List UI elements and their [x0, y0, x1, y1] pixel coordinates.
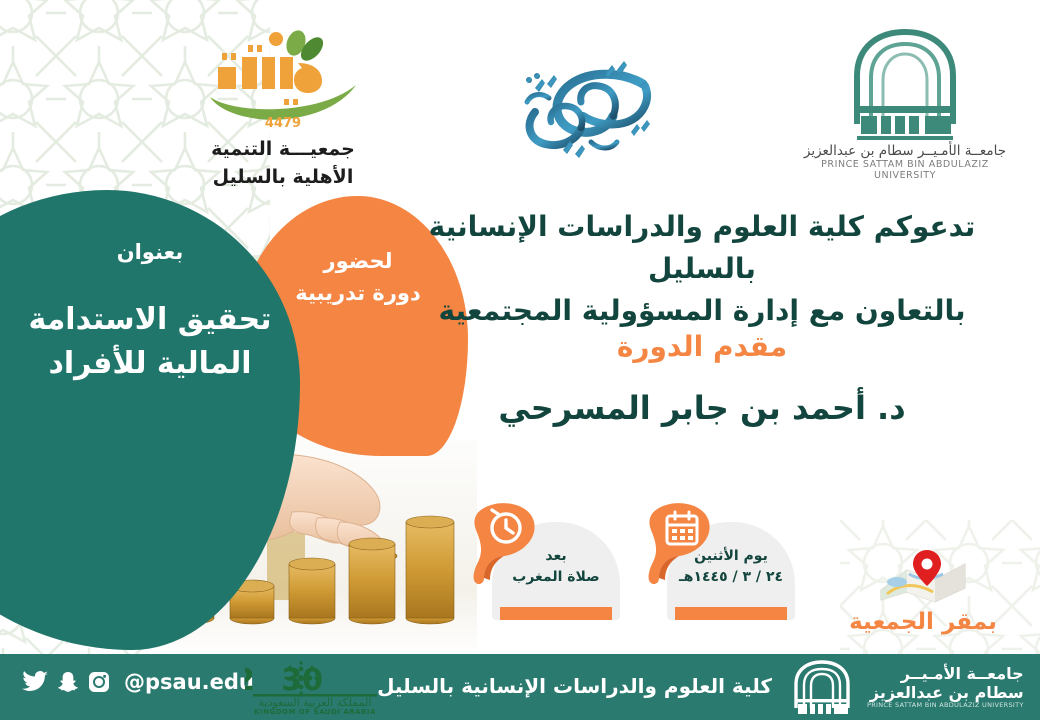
course-title-line2: المالية للأفراد — [0, 342, 300, 386]
course-title-label: بعنوان — [0, 240, 300, 264]
tanmia-logo-number: 4479 — [265, 116, 301, 131]
presenter-name: د. أحمد بن جابر المسرحي — [392, 389, 1012, 427]
info-card-date-line2: ٢٤ / ٣ / ١٤٤٥هـ — [667, 567, 795, 588]
headline-line2: بالتعاون مع إدارة المسؤولية المجتمعية — [392, 290, 1012, 332]
event-poster: لحضور دورة تدريبية بعنوان تحقيق الاستدام… — [0, 0, 1040, 720]
invitation-calligraphy — [495, 58, 665, 168]
course-title-panel: بعنوان تحقيق الاستدامة المالية للأفراد — [0, 240, 300, 385]
map-pin-icon — [875, 546, 971, 606]
footer-university-line2: سطام بن عبدالعزيز — [867, 683, 1024, 702]
info-card-date-bar — [675, 607, 787, 620]
info-card-time-bar — [500, 607, 612, 620]
footer-university-line-en: PRINCE SATTAM BIN ABDULAZIZ UNIVERSITY — [867, 702, 1024, 710]
presenter-block: مقدم الدورة د. أحمد بن جابر المسرحي — [392, 330, 1012, 427]
association-logo: 4479 جمعيـــة التنمية الأهلية بالسليل — [178, 22, 388, 191]
university-name-en: PRINCE SATTAM BIN ABDULAZIZ UNIVERSITY — [790, 159, 1020, 181]
headline-line1: تدعوكم كلية العلوم والدراسات الإنسانية ب… — [392, 206, 1012, 290]
info-card-date-text: يوم الأثنين ٢٤ / ٣ / ١٤٤٥هـ — [667, 546, 795, 588]
snapchat-icon[interactable] — [57, 671, 79, 693]
university-name-ar: جامعــة الأمـيــر سطام بن عبدالعزيز — [790, 143, 1020, 159]
footer-bar: @psau.edu 2 30 المملكة العربية السع — [0, 654, 1040, 720]
association-name-line1: جمعيـــة التنمية — [178, 136, 388, 164]
footer-social-group: @psau.edu — [22, 670, 254, 694]
location-block: بمقر الجمعية — [838, 545, 1008, 635]
footer-university-line1: جامعــة الأمـيــر — [867, 664, 1024, 683]
presenter-role: مقدم الدورة — [392, 330, 1012, 363]
info-card-time-line1: بعد — [492, 546, 620, 567]
tanmia-logo-icon: 4479 — [188, 23, 378, 131]
social-handle[interactable]: @psau.edu — [124, 670, 254, 694]
vision-name-en: KINGDOM OF SAUDI ARABIA — [254, 708, 376, 716]
info-card-date-line1: يوم الأثنين — [667, 546, 795, 567]
info-card-time-text: بعد صلاة المغرب — [492, 546, 620, 588]
location-label: بمقر الجمعية — [838, 609, 1008, 635]
headline: تدعوكم كلية العلوم والدراسات الإنسانية ب… — [392, 206, 1012, 332]
university-logo: جامعــة الأمـيــر سطام بن عبدالعزيز PRIN… — [790, 22, 1020, 181]
course-title-line1: تحقيق الاستدامة — [0, 298, 300, 342]
info-card-time-line2: صلاة المغرب — [492, 567, 620, 588]
info-card-time: بعد صلاة المغرب — [470, 500, 640, 620]
association-name-line2: الأهلية بالسليل — [178, 164, 388, 192]
twitter-icon[interactable] — [22, 671, 48, 693]
footer-college-name: كلية العلوم والدراسات الإنسانية بالسليل — [377, 674, 772, 698]
psau-arch-logo-white-icon — [783, 658, 861, 716]
vision-2030-logo-icon: 2 30 المملكة العربية السعودية KINGDOM OF… — [245, 660, 385, 716]
instagram-icon[interactable] — [88, 671, 110, 693]
vision-number-2: 2 — [245, 663, 255, 698]
info-card-date: يوم الأثنين ٢٤ / ٣ / ١٤٤٥هـ — [645, 500, 815, 620]
psau-arch-logo-icon — [815, 24, 995, 140]
vision-number-30: 30 — [281, 663, 323, 698]
dawah-calligraphy-icon — [495, 58, 665, 168]
footer-university-logo: جامعــة الأمـيــر سطام بن عبدالعزيز PRIN… — [783, 656, 1028, 718]
